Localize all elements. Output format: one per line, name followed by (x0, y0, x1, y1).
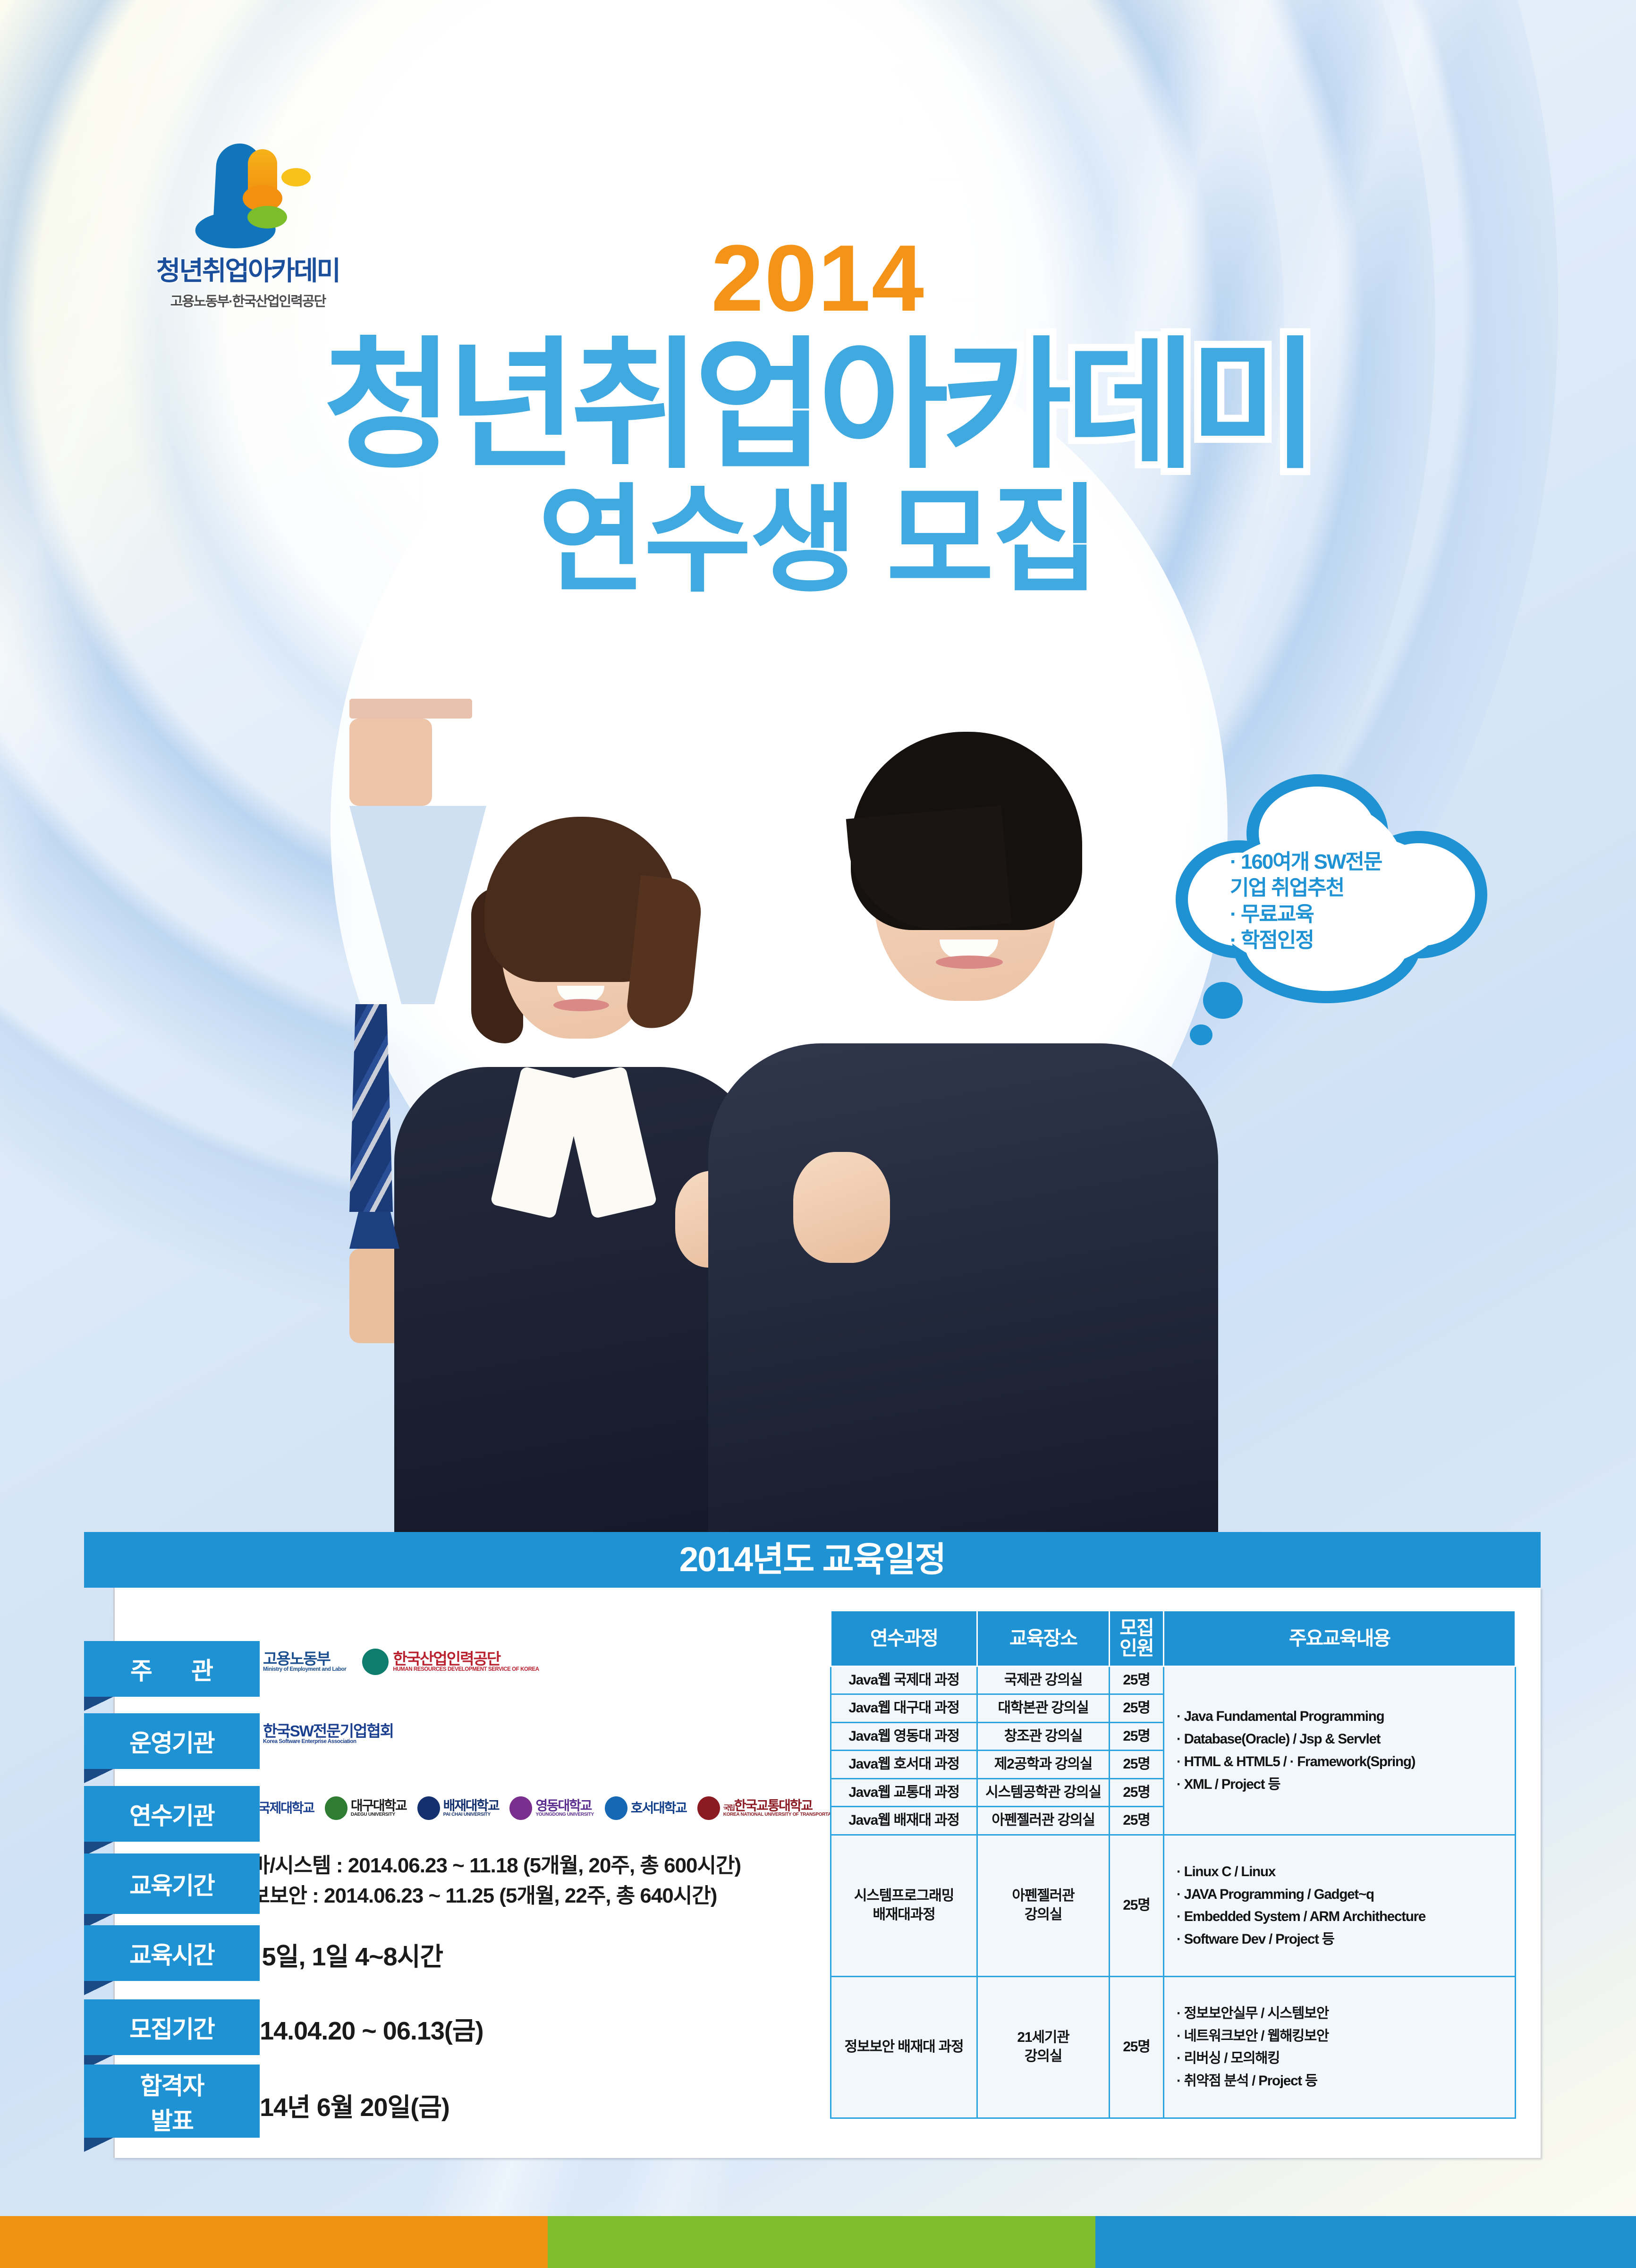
org-name-english: HUMAN RESOURCES DEVELOPMENT SERVICE OF K… (393, 1667, 539, 1673)
header-recruit-line2: 인원 (1111, 1638, 1162, 1659)
cell-count: 25명 (1110, 1722, 1164, 1751)
university-name-english: PAI CHAI UNIVERSITY (443, 1812, 499, 1817)
cell-course-line2: 배재대과정 (833, 1905, 975, 1925)
info-value-line2: 정보보안 : 2014.06.23 ~ 11.25 (5개월, 22주, 총 6… (232, 1881, 741, 1911)
university-logo: 호서대학교 (605, 1796, 687, 1820)
info-value-4: 주 5일, 1일 4~8시간 (232, 1936, 443, 1973)
title-year: 2014 (0, 231, 1636, 326)
info-value-5: 2014.04.20 ~ 06.13(금) (232, 2010, 483, 2047)
cell-count: 25명 (1110, 1976, 1164, 2118)
female-pocket (349, 699, 472, 719)
cell-curriculum: · Linux C / Linux· JAVA Programming / Ga… (1164, 1835, 1516, 1976)
info-value-2: 국제대학교대구대학교DAEGU UNIVERSITY배재대학교PAI CHAI … (232, 1796, 852, 1820)
cloud-text-list: · 160여개 SW전문 기업 취업추천 · 무료교육 · 학점인정 (1230, 849, 1452, 954)
org-mark-icon (362, 1649, 389, 1675)
org-name-english: Ministry of Employment and Labor (263, 1667, 346, 1673)
male-tie (349, 1004, 393, 1212)
info-label-fold-1 (84, 1769, 113, 1783)
cell-place: 아펜젤러관 강의실 (977, 1807, 1110, 1835)
org-name: 한국산업인력공단HUMAN RESOURCES DEVELOPMENT SERV… (393, 1651, 539, 1673)
info-label-2: 연수기관 (84, 1786, 260, 1842)
male-fist (793, 1152, 890, 1263)
info-panel: 주 관고용노동부Ministry of Employment and Labor… (113, 1588, 1541, 2158)
table-row: 정보보안 배재대 과정21세기관강의실25명· 정보보안실무 / 시스템보안· … (831, 1976, 1516, 2118)
table-row: Java웹 국제대 과정국제관 강의실25명· Java Fundamental… (831, 1666, 1516, 1694)
cell-course-line1: 시스템프로그래밍 (833, 1887, 975, 1906)
cell-count: 25명 (1110, 1778, 1164, 1807)
university-name: 국립한국교통대학교KOREA NATIONAL UNIVERSITY OF TR… (723, 1799, 841, 1818)
cell-course: 시스템프로그래밍배재대과정 (831, 1835, 977, 1976)
curriculum-item-2: · Embedded System / ARM Archithecture (1177, 1905, 1513, 1928)
info-value-6: 2014년 6월 20일(금) (232, 2086, 449, 2124)
male-hair-sweep (846, 805, 1012, 937)
university-name: 배재대학교PAI CHAI UNIVERSITY (443, 1799, 499, 1818)
university-logo: 배재대학교PAI CHAI UNIVERSITY (417, 1796, 499, 1820)
bottom-bar-blue (1095, 2216, 1636, 2268)
table-row: 시스템프로그래밍배재대과정아펜젤러관강의실25명· Linux C / Linu… (831, 1835, 1516, 1976)
curriculum-item-3: · XML / Project 등 (1177, 1773, 1513, 1796)
university-name-english: DAEGU UNIVERSITY (351, 1812, 407, 1817)
poster-canvas: 청년취업아카데미 고용노동부·한국산업인력공단 2014 청년취업아카데미 연수… (0, 0, 1636, 2268)
info-label-fold-6 (84, 2138, 113, 2152)
cell-place: 창조관 강의실 (977, 1722, 1110, 1751)
info-label-1: 운영기관 (84, 1713, 260, 1769)
schedule-col-header-0: 연수과정 (831, 1611, 977, 1667)
cell-count: 25명 (1110, 1694, 1164, 1723)
cell-place: 아펜젤러관강의실 (977, 1835, 1110, 1976)
university-name-english: KOREA NATIONAL UNIVERSITY OF TRANSPORTAT… (723, 1812, 841, 1817)
poster-title-block: 2014 청년취업아카데미 연수생 모집 (0, 231, 1636, 605)
university-name-english: YOUNGDONG UNIVERSITY (535, 1812, 593, 1817)
university-name: 영동대학교YOUNGDONG UNIVERSITY (535, 1799, 593, 1818)
info-value-line1: 자바/시스템 : 2014.06.23 ~ 11.18 (5개월, 20주, 총… (232, 1851, 741, 1881)
cell-course: Java웹 영동대 과정 (831, 1722, 977, 1751)
cloud-item-0: · 160여개 SW전문 (1230, 849, 1452, 875)
cell-course: Java웹 교통대 과정 (831, 1778, 977, 1807)
curriculum-item-1: · 네트워크보안 / 웹해킹보안 (1177, 2025, 1513, 2048)
org-logo: 한국산업인력공단HUMAN RESOURCES DEVELOPMENT SERV… (362, 1649, 539, 1675)
university-crest-icon (605, 1796, 627, 1820)
cell-place: 국제관 강의실 (977, 1666, 1110, 1694)
schedule-col-header-2: 모집인원 (1110, 1611, 1164, 1667)
cell-count: 25명 (1110, 1807, 1164, 1835)
curriculum-item-2: · 리버싱 / 모의해킹 (1177, 2047, 1513, 2070)
cloud-item-3: · 학점인정 (1230, 927, 1452, 953)
female-neck (349, 719, 432, 806)
info-label-6: 합격자발표 (84, 2065, 260, 2138)
university-name: 호서대학교 (631, 1801, 687, 1815)
curriculum-item-0: · Java Fundamental Programming (1177, 1705, 1513, 1728)
university-logo: 국립한국교통대학교KOREA NATIONAL UNIVERSITY OF TR… (697, 1796, 841, 1820)
curriculum-item-1: · Database(Oracle) / Jsp & Servlet (1177, 1728, 1513, 1751)
university-crest-icon (325, 1796, 348, 1820)
male-suit (708, 1043, 1218, 1563)
schedule-table-header-row: 연수과정교육장소모집인원주요교육내용 (831, 1611, 1516, 1667)
male-tie-knot (349, 1212, 399, 1249)
schedule-banner-title: 2014년도 교육일정 (84, 1532, 1541, 1588)
info-label-3: 교육기간 (84, 1853, 260, 1914)
cloud-tail-small (1190, 1024, 1212, 1045)
cell-place: 대학본관 강의실 (977, 1694, 1110, 1723)
male-shirt (349, 806, 486, 1004)
info-label-0: 주 관 (84, 1641, 260, 1697)
cell-place: 제2공학과 강의실 (977, 1751, 1110, 1779)
cloud-item-2: · 무료교육 (1230, 901, 1452, 927)
cell-place: 시스템공학관 강의실 (977, 1778, 1110, 1807)
info-label-fold-0 (84, 1697, 113, 1711)
cell-curriculum: · Java Fundamental Programming· Database… (1164, 1666, 1516, 1835)
cell-count: 25명 (1110, 1835, 1164, 1976)
schedule-col-header-3: 주요교육내용 (1164, 1611, 1516, 1667)
cell-count: 25명 (1110, 1751, 1164, 1779)
cell-course-line1: 정보보안 배재대 과정 (833, 2038, 975, 2057)
university-name: 대구대학교DAEGU UNIVERSITY (351, 1799, 407, 1818)
university-crest-icon (697, 1796, 720, 1820)
org-name: 한국SW전문기업협회Korea Software Enterprise Asso… (263, 1723, 393, 1745)
cell-course: Java웹 배재대 과정 (831, 1807, 977, 1835)
cell-place-line1: 아펜젤러관 (980, 1887, 1107, 1906)
university-crest-icon (417, 1796, 440, 1820)
info-label-fold-4 (84, 1981, 113, 1995)
curriculum-item-0: · Linux C / Linux (1177, 1861, 1513, 1883)
bottom-bar-green (548, 2216, 1095, 2268)
bottom-bar-orange (0, 2216, 548, 2268)
cell-place-line2: 강의실 (980, 1905, 1107, 1925)
schedule-table-body: Java웹 국제대 과정국제관 강의실25명· Java Fundamental… (831, 1666, 1516, 2118)
cell-place-line2: 강의실 (980, 2047, 1107, 2066)
title-main: 청년취업아카데미 (0, 330, 1636, 481)
cloud-item-1: 기업 취업추천 (1230, 875, 1452, 901)
cell-curriculum: · 정보보안실무 / 시스템보안· 네트워크보안 / 웹해킹보안· 리버싱 / … (1164, 1976, 1516, 2118)
cell-place: 21세기관강의실 (977, 1976, 1110, 2118)
bottom-color-bar (0, 2216, 1636, 2268)
university-logo: 대구대학교DAEGU UNIVERSITY (325, 1796, 407, 1820)
cell-count: 25명 (1110, 1666, 1164, 1694)
cell-course: Java웹 대구대 과정 (831, 1694, 977, 1723)
curriculum-item-2: · HTML & HTML5 / · Framework(Spring) (1177, 1751, 1513, 1773)
curriculum-item-0: · 정보보안실무 / 시스템보안 (1177, 2002, 1513, 2025)
university-crest-icon (509, 1796, 532, 1820)
info-value-0: 고용노동부Ministry of Employment and Labor한국산… (232, 1649, 555, 1675)
org-name-english: Korea Software Enterprise Association (263, 1739, 393, 1745)
schedule-table: 연수과정교육장소모집인원주요교육내용 Java웹 국제대 과정국제관 강의실25… (830, 1610, 1516, 2119)
cell-place-line1: 21세기관 (980, 2028, 1107, 2048)
schedule-banner: 2014년도 교육일정 (84, 1532, 1541, 1588)
info-label-line1: 합격자 (140, 2066, 204, 2101)
header-recruit-line1: 모집 (1111, 1618, 1162, 1638)
cell-course: 정보보안 배재대 과정 (831, 1976, 977, 2118)
feature-cloud-bubble: · 160여개 SW전문 기업 취업추천 · 무료교육 · 학점인정 (1176, 774, 1492, 1020)
schedule-col-header-1: 교육장소 (977, 1611, 1110, 1667)
cell-course: Java웹 호서대 과정 (831, 1751, 977, 1779)
info-label-5: 모집기간 (84, 1999, 260, 2055)
curriculum-item-1: · JAVA Programming / Gadget~q (1177, 1883, 1513, 1906)
university-name: 국제대학교 (258, 1801, 314, 1815)
cloud-tail-large (1203, 982, 1243, 1019)
cell-course: Java웹 국제대 과정 (831, 1666, 977, 1694)
curriculum-item-3: · 취약점 분석 / Project 등 (1177, 2070, 1513, 2092)
students-photo (349, 699, 1246, 1549)
title-sub: 연수생 모집 (0, 476, 1636, 605)
curriculum-item-3: · Software Dev / Project 등 (1177, 1928, 1513, 1951)
info-value-3: 자바/시스템 : 2014.06.23 ~ 11.18 (5개월, 20주, 총… (232, 1851, 741, 1911)
info-label-line2: 발표 (151, 2101, 193, 2136)
org-name: 고용노동부Ministry of Employment and Labor (263, 1651, 346, 1673)
info-label-4: 교육시간 (84, 1925, 260, 1981)
university-logo: 영동대학교YOUNGDONG UNIVERSITY (509, 1796, 593, 1820)
